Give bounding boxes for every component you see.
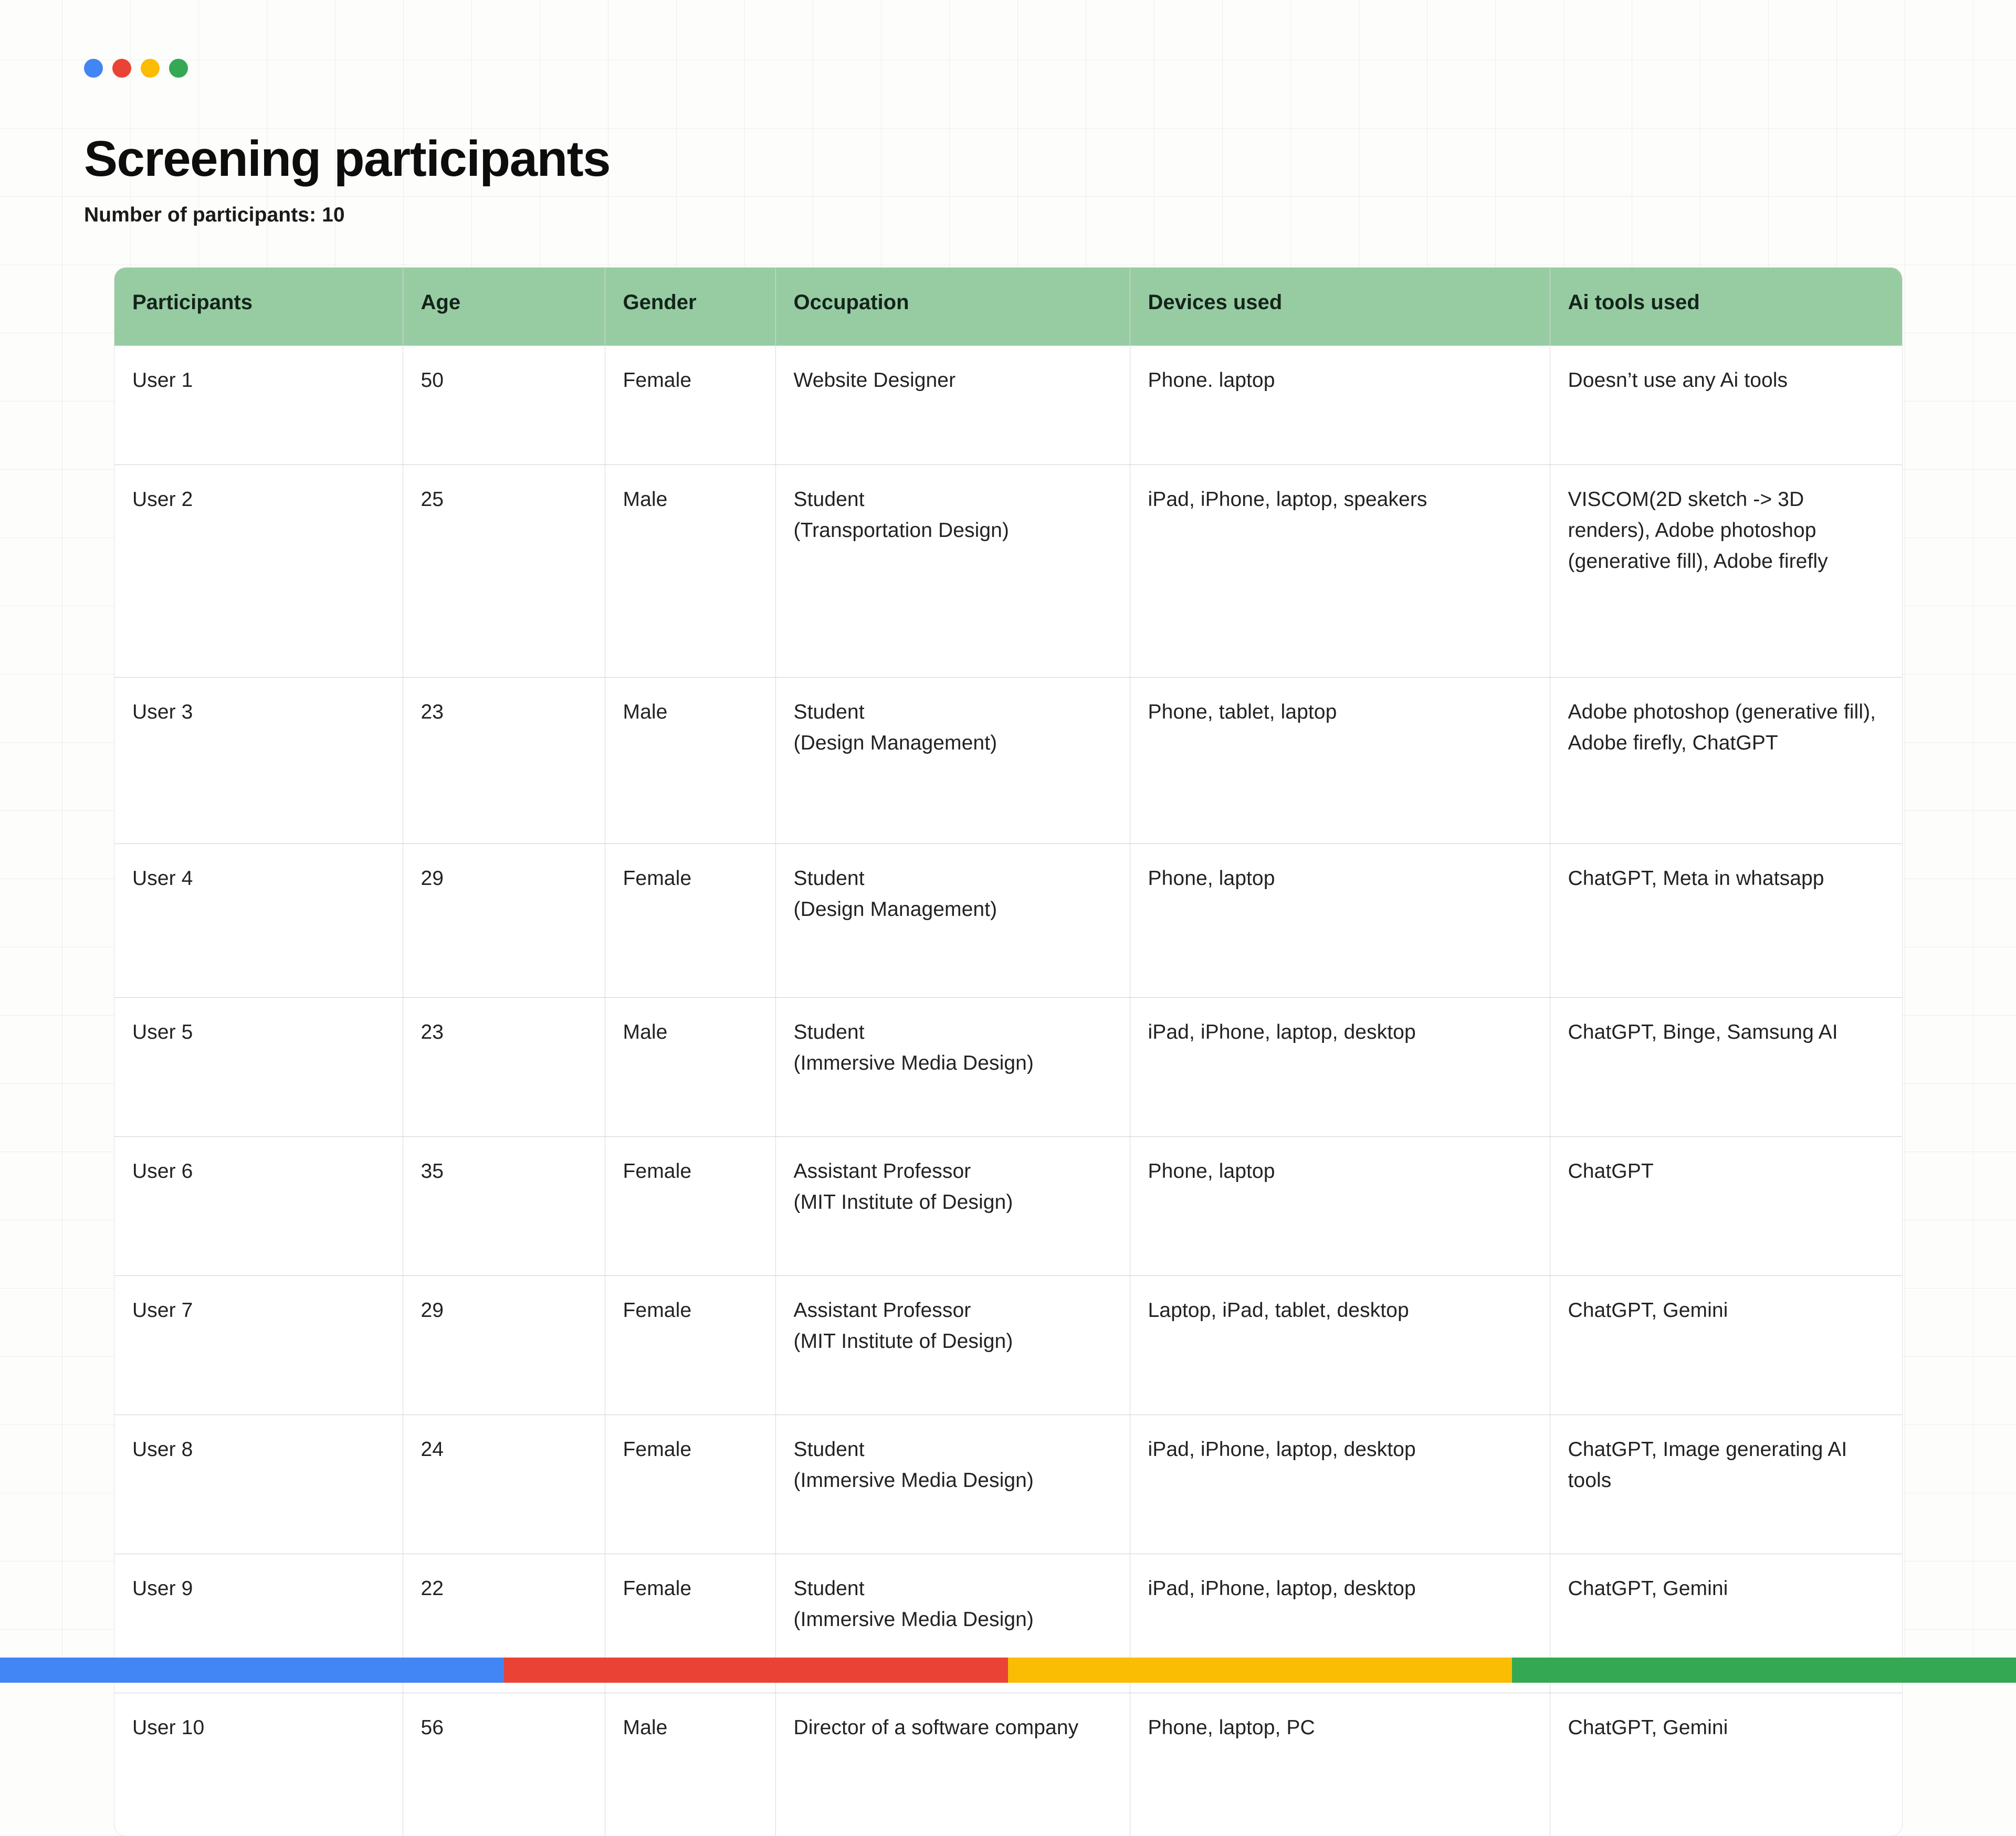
- cell-participant: User 10: [114, 1693, 403, 1836]
- cell-occupation: Director of a software company: [775, 1693, 1130, 1836]
- green-segment: [1512, 1658, 2016, 1683]
- occupation-line-2: (Transportation Design): [794, 515, 1106, 546]
- cell-gender: Male: [605, 997, 775, 1136]
- cell-ai-tools: ChatGPT, Binge, Samsung AI: [1550, 997, 1902, 1136]
- cell-gender: Male: [605, 677, 775, 843]
- red-segment: [504, 1658, 1008, 1683]
- cell-ai-tools: Adobe photoshop (generative fill), Adobe…: [1550, 677, 1902, 843]
- slide-canvas: Screening participants Number of partici…: [0, 0, 2016, 1683]
- cell-ai-tools: ChatGPT: [1550, 1136, 1902, 1275]
- cell-age: 25: [403, 465, 605, 677]
- red-dot: [112, 59, 131, 78]
- cell-occupation: Assistant Professor(MIT Institute of Des…: [775, 1136, 1130, 1275]
- occupation-line-1: Director of a software company: [794, 1712, 1106, 1743]
- column-header-occupation: Occupation: [775, 268, 1130, 345]
- cell-participant: User 4: [114, 843, 403, 997]
- cell-ai-tools: ChatGPT, Gemini: [1550, 1693, 1902, 1836]
- cell-age: 23: [403, 997, 605, 1136]
- occupation-line-1: Assistant Professor: [794, 1156, 1106, 1187]
- cell-age: 24: [403, 1415, 605, 1554]
- blue-dot: [84, 59, 103, 78]
- cell-occupation: Student(Immersive Media Design): [775, 1415, 1130, 1554]
- cell-gender: Female: [605, 843, 775, 997]
- yellow-dot: [141, 59, 160, 78]
- cell-occupation: Website Designer: [775, 345, 1130, 465]
- occupation-line-1: Student: [794, 863, 1106, 894]
- cell-age: 56: [403, 1693, 605, 1836]
- table-header: Participants Age Gender Occupation Devic…: [114, 268, 1902, 345]
- brand-color-bar: [0, 1658, 2016, 1683]
- cell-ai-tools: ChatGPT, Gemini: [1550, 1275, 1902, 1415]
- cell-devices: Phone, laptop, PC: [1130, 1693, 1550, 1836]
- cell-devices: Phone, tablet, laptop: [1130, 677, 1550, 843]
- cell-gender: Female: [605, 345, 775, 465]
- cell-gender: Female: [605, 1136, 775, 1275]
- cell-participant: User 2: [114, 465, 403, 677]
- occupation-line-2: (Immersive Media Design): [794, 1048, 1106, 1079]
- cell-participant: User 7: [114, 1275, 403, 1415]
- table-row: User 824FemaleStudent(Immersive Media De…: [114, 1415, 1902, 1554]
- occupation-line-2: (Immersive Media Design): [794, 1465, 1106, 1496]
- blue-segment: [0, 1658, 504, 1683]
- cell-ai-tools: ChatGPT, Image generating AI tools: [1550, 1415, 1902, 1554]
- brand-dots: [84, 59, 188, 78]
- cell-ai-tools: VISCOM(2D sketch -> 3D renders), Adobe p…: [1550, 465, 1902, 677]
- occupation-line-1: Student: [794, 1017, 1106, 1048]
- cell-participant: User 8: [114, 1415, 403, 1554]
- cell-occupation: Student(Transportation Design): [775, 465, 1130, 677]
- table-row: User 323MaleStudent(Design Management)Ph…: [114, 677, 1902, 843]
- cell-age: 23: [403, 677, 605, 843]
- column-header-aitools: Ai tools used: [1550, 268, 1902, 345]
- cell-participant: User 6: [114, 1136, 403, 1275]
- cell-age: 35: [403, 1136, 605, 1275]
- column-header-gender: Gender: [605, 268, 775, 345]
- table-row: User 429FemaleStudent(Design Management)…: [114, 843, 1902, 997]
- cell-ai-tools: ChatGPT, Meta in whatsapp: [1550, 843, 1902, 997]
- cell-devices: iPad, iPhone, laptop, desktop: [1130, 997, 1550, 1136]
- table-row: User 1056MaleDirector of a software comp…: [114, 1693, 1902, 1836]
- cell-devices: iPad, iPhone, laptop, speakers: [1130, 465, 1550, 677]
- cell-age: 50: [403, 345, 605, 465]
- cell-participant: User 1: [114, 345, 403, 465]
- occupation-line-1: Assistant Professor: [794, 1295, 1106, 1326]
- cell-devices: Laptop, iPad, tablet, desktop: [1130, 1275, 1550, 1415]
- occupation-line-2: (MIT Institute of Design): [794, 1326, 1106, 1357]
- cell-gender: Male: [605, 465, 775, 677]
- cell-occupation: Student(Design Management): [775, 843, 1130, 997]
- table-body: User 150FemaleWebsite DesignerPhone. lap…: [114, 345, 1902, 1836]
- cell-gender: Female: [605, 1415, 775, 1554]
- occupation-line-1: Student: [794, 1573, 1106, 1604]
- table-row: User 523MaleStudent(Immersive Media Desi…: [114, 997, 1902, 1136]
- cell-gender: Female: [605, 1275, 775, 1415]
- occupation-line-2: (Design Management): [794, 727, 1106, 758]
- yellow-segment: [1008, 1658, 1512, 1683]
- cell-ai-tools: Doesn’t use any Ai tools: [1550, 345, 1902, 465]
- participant-count-label: Number of participants: 10: [84, 204, 345, 227]
- green-dot: [169, 59, 188, 78]
- cell-occupation: Student(Immersive Media Design): [775, 997, 1130, 1136]
- column-header-age: Age: [403, 268, 605, 345]
- table-row: User 225MaleStudent(Transportation Desig…: [114, 465, 1902, 677]
- table-row: User 729FemaleAssistant Professor(MIT In…: [114, 1275, 1902, 1415]
- cell-devices: Phone, laptop: [1130, 843, 1550, 997]
- cell-devices: Phone, laptop: [1130, 1136, 1550, 1275]
- table-row: User 150FemaleWebsite DesignerPhone. lap…: [114, 345, 1902, 465]
- cell-occupation: Assistant Professor(MIT Institute of Des…: [775, 1275, 1130, 1415]
- table-header-row: Participants Age Gender Occupation Devic…: [114, 268, 1902, 345]
- occupation-line-1: Student: [794, 484, 1106, 515]
- occupation-line-1: Student: [794, 1434, 1106, 1465]
- cell-gender: Male: [605, 1693, 775, 1836]
- column-header-devices: Devices used: [1130, 268, 1550, 345]
- cell-age: 29: [403, 843, 605, 997]
- occupation-line-1: Website Designer: [794, 365, 1106, 396]
- cell-devices: iPad, iPhone, laptop, desktop: [1130, 1415, 1550, 1554]
- participants-table: Participants Age Gender Occupation Devic…: [114, 268, 1902, 1836]
- occupation-line-2: (Immersive Media Design): [794, 1604, 1106, 1635]
- table-row: User 635FemaleAssistant Professor(MIT In…: [114, 1136, 1902, 1275]
- occupation-line-2: (MIT Institute of Design): [794, 1187, 1106, 1218]
- page-title: Screening participants: [84, 131, 610, 187]
- occupation-line-1: Student: [794, 697, 1106, 727]
- cell-devices: Phone. laptop: [1130, 345, 1550, 465]
- column-header-participants: Participants: [114, 268, 403, 345]
- cell-participant: User 3: [114, 677, 403, 843]
- cell-age: 29: [403, 1275, 605, 1415]
- occupation-line-2: (Design Management): [794, 894, 1106, 925]
- cell-participant: User 5: [114, 997, 403, 1136]
- cell-occupation: Student(Design Management): [775, 677, 1130, 843]
